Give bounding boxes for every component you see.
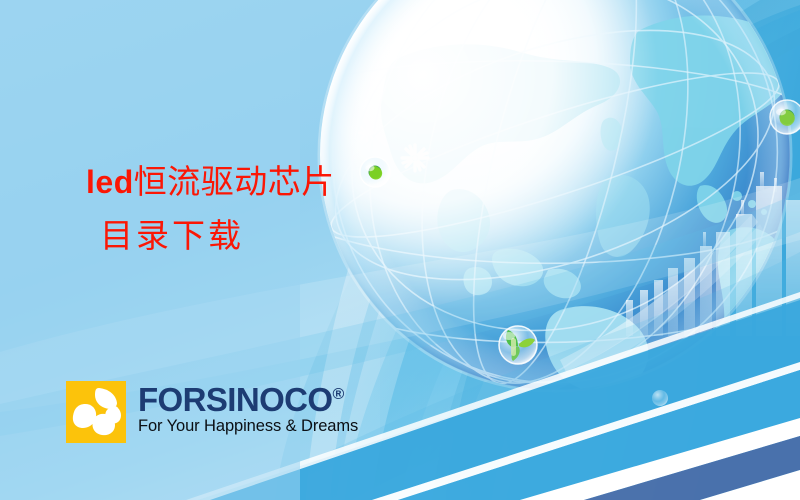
bubble-globe-icon — [360, 157, 390, 187]
bubble-small — [652, 390, 668, 406]
starburst-flower — [402, 145, 428, 171]
promotional-banner: led恒流驱动芯片 目录下载 FORSINOCO® For Your Happi… — [0, 0, 800, 500]
registered-trademark-symbol: ® — [332, 386, 344, 403]
bubble-globe-icon — [770, 100, 800, 134]
starburst-flower — [359, 125, 375, 141]
logo-wordmark: FORSINOCO® — [138, 384, 358, 415]
bubble-leaf-icon — [499, 326, 537, 364]
logo-tagline: For Your Happiness & Dreams — [138, 417, 358, 435]
forsinoco-logo-mark-icon — [66, 381, 126, 443]
logo-text-block: FORSINOCO® For Your Happiness & Dreams — [138, 381, 358, 435]
logo-wordmark-text: FORSINOCO — [138, 381, 332, 418]
brand-logo-lockup: FORSINOCO® For Your Happiness & Dreams — [66, 381, 358, 443]
